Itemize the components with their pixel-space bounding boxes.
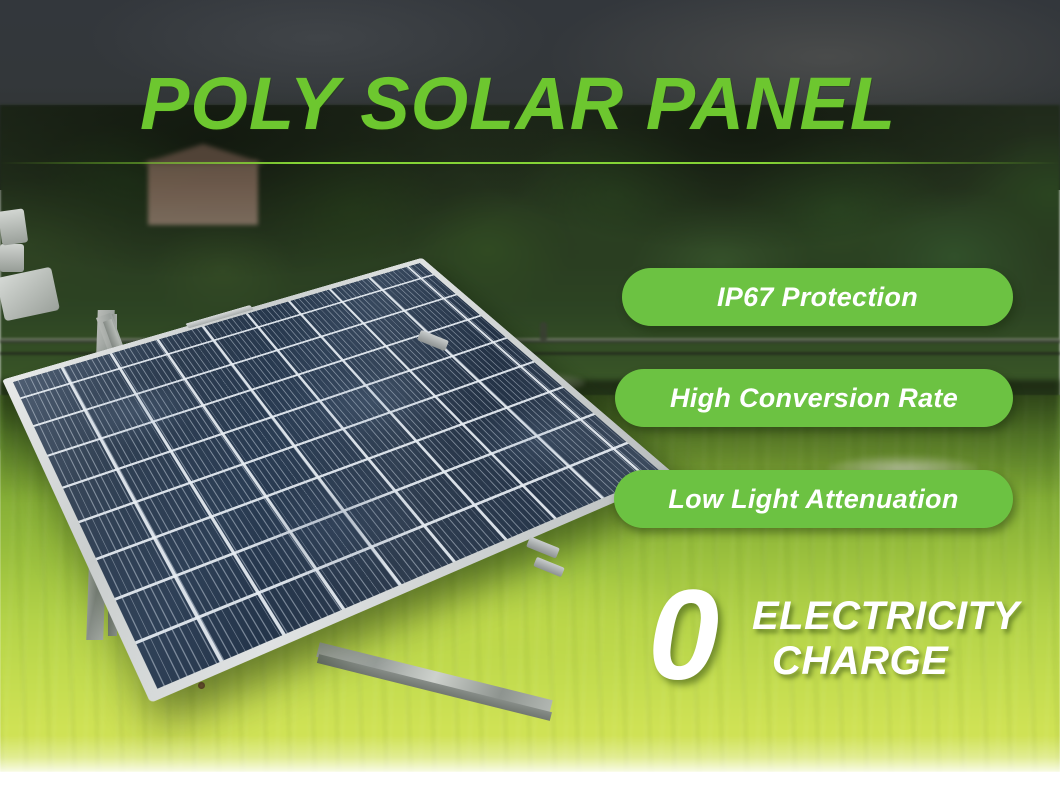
feature-pill-label: IP67 Protection — [717, 282, 918, 313]
mount-gusset-plate — [0, 267, 60, 322]
charge-label: CHARGE — [752, 639, 1032, 684]
zero-electricity-charge-block: 0 ELECTRICITY CHARGE — [630, 580, 1030, 690]
page-title: POLY SOLAR PANEL — [140, 58, 940, 150]
feature-pill-label: Low Light Attenuation — [668, 484, 958, 515]
feature-pill-label: High Conversion Rate — [670, 383, 958, 414]
electricity-charge-text: ELECTRICITY CHARGE — [752, 594, 1032, 684]
feature-pill-ip67-protection[interactable]: IP67 Protection — [622, 268, 1013, 326]
panel-mounting-clip — [533, 557, 565, 578]
mount-pivot-bracket-lower — [0, 244, 24, 272]
bottom-white-band — [0, 772, 1060, 790]
bottom-fade — [0, 735, 1060, 775]
feature-pill-low-light-attenuation[interactable]: Low Light Attenuation — [614, 470, 1013, 528]
electricity-label: ELECTRICITY — [752, 594, 1032, 639]
feature-pill-high-conversion-rate[interactable]: High Conversion Rate — [615, 369, 1013, 427]
green-divider-line — [0, 162, 1060, 164]
mount-pivot-bracket-upper — [0, 208, 28, 245]
solar-panel-assembly — [0, 210, 620, 710]
zero-number: 0 — [648, 572, 719, 700]
bolt-head — [198, 682, 205, 689]
panel-mounting-clip — [526, 536, 560, 558]
promo-banner: POLY SOLAR PANEL IP67 Protection High Co… — [0, 0, 1060, 790]
